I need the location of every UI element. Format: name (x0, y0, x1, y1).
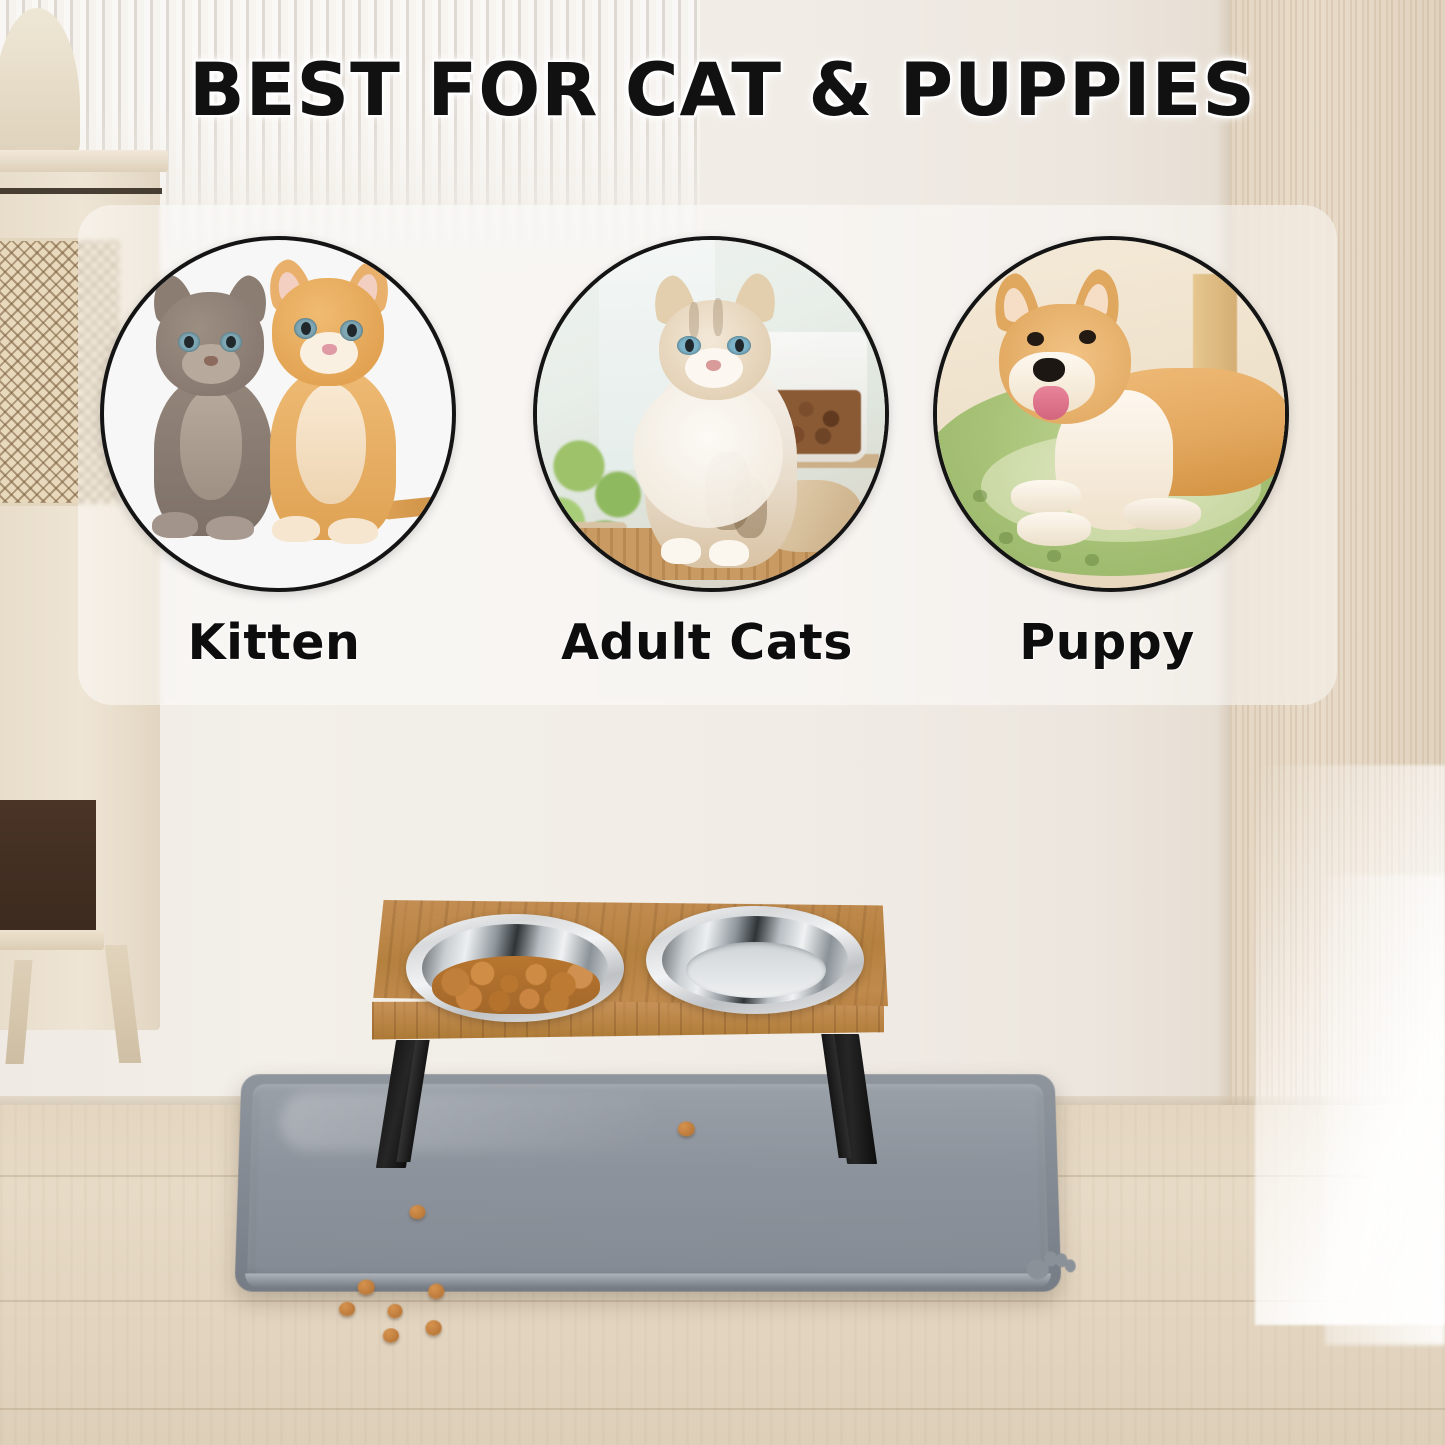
kitten-orange-paw-right (328, 518, 378, 544)
kitten-orange-eye-right (340, 320, 363, 341)
cabinet-open-niche (0, 800, 96, 940)
kitten-orange-chest (296, 384, 366, 504)
adult-cat-nose (706, 360, 721, 371)
kitten-gray-paw-left (152, 512, 198, 538)
adult-cat-eye-left (677, 336, 701, 355)
spilled-kibble (387, 1304, 402, 1318)
floor-plank-seam (0, 1300, 1445, 1302)
feature-label-puppy: Puppy (933, 614, 1281, 671)
feature-circle-adult-cats[interactable] (533, 236, 889, 592)
feature-label-kitten: Kitten (100, 614, 448, 671)
adult-cat-paw-right (709, 540, 749, 566)
puppy-tongue (1033, 386, 1069, 420)
elevated-pet-feeder-stand[interactable] (368, 900, 888, 1220)
floor-plank-seam (0, 1408, 1445, 1410)
kitten-gray-eye-right (220, 332, 242, 352)
cabinet-lower-shelf (0, 930, 104, 950)
kitten-orange-nose (322, 344, 337, 355)
food-bowl[interactable] (406, 914, 624, 1022)
kitten-gray-nose (204, 356, 218, 366)
spilled-kibble (428, 1284, 444, 1299)
puppy-paw-rear (1123, 498, 1201, 530)
sheer-curtain-fold (1325, 875, 1445, 1345)
kitten-gray-chest (180, 390, 242, 500)
kitten-orange-eye-left (294, 318, 317, 339)
product-banner: BEST FOR CAT & PUPPIES (0, 0, 1445, 1445)
adult-cat-forehead-stripe (689, 302, 699, 338)
kitten-gray-eye-left (178, 332, 200, 352)
dry-kibble-in-bowl (432, 956, 600, 1014)
puppy-nose (1033, 358, 1065, 382)
water-bowl-base-ring (686, 942, 826, 998)
feature-label-adult-cats: Adult Cats (533, 614, 881, 671)
water-bowl[interactable] (646, 906, 864, 1014)
spilled-kibble (339, 1302, 355, 1316)
puppy-paw-front-upper (1011, 480, 1081, 514)
pet-bed-paw-print (973, 490, 987, 502)
cabinet-top-surface (0, 150, 168, 172)
mat-paw-tab-icon (1022, 1247, 1077, 1281)
pet-bed-paw-print (1047, 550, 1061, 562)
adult-cat-eye-right (727, 336, 751, 355)
spilled-kibble (425, 1320, 441, 1335)
feature-circle-kitten[interactable] (100, 236, 456, 592)
puppy-paw-front-lower (1017, 512, 1091, 546)
feature-circle-puppy[interactable] (933, 236, 1289, 592)
cabinet-shadow-gap (0, 188, 162, 194)
kitten-gray-paw-right (206, 516, 254, 540)
spilled-kibble (383, 1328, 399, 1342)
kitten-orange-paw-left (272, 516, 320, 542)
adult-cat-paw-left (661, 538, 701, 564)
page-title: BEST FOR CAT & PUPPIES (0, 48, 1445, 133)
spilled-kibble (357, 1279, 374, 1294)
adult-cat-chest-ruff (633, 378, 783, 528)
pet-bed-paw-print (1085, 554, 1099, 566)
puppy-eye-right (1079, 330, 1096, 344)
pet-bed-paw-print (999, 532, 1013, 544)
adult-cat-forehead-stripe (713, 298, 723, 336)
puppy-eye-left (1027, 332, 1044, 346)
